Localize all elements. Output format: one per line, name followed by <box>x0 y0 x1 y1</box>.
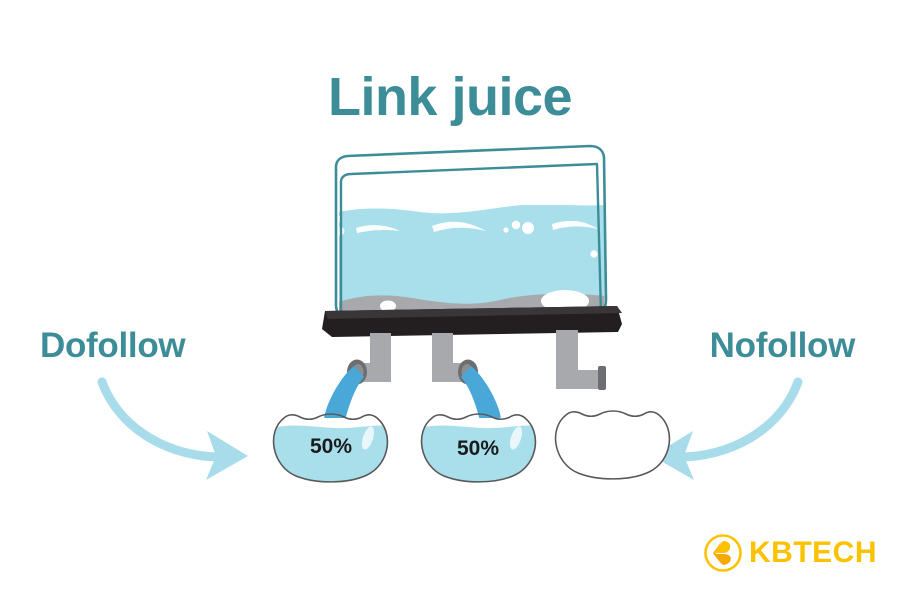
fishbowl-1-percent: 50% <box>286 435 376 459</box>
nofollow-arrow <box>652 382 798 480</box>
pipe-cap-icon <box>598 366 606 390</box>
page-title: Link juice <box>0 66 900 128</box>
dofollow-arrow <box>102 382 248 480</box>
fishbowl-3 <box>556 411 670 479</box>
dofollow-label: Dofollow <box>40 326 185 366</box>
fishbowl-2-percent: 50% <box>433 437 523 461</box>
kb-monogram-icon <box>703 533 743 573</box>
logo-wordmark: KBTECH <box>749 538 877 568</box>
nofollow-pipe-right <box>556 330 606 390</box>
aquarium-tank <box>322 146 622 337</box>
kbtech-logo[interactable]: KBTECH <box>703 533 877 573</box>
nofollow-label: Nofollow <box>710 326 855 366</box>
infographic-canvas: Link juice Dofollow Nofollow 50% 50% KBT… <box>0 0 900 600</box>
